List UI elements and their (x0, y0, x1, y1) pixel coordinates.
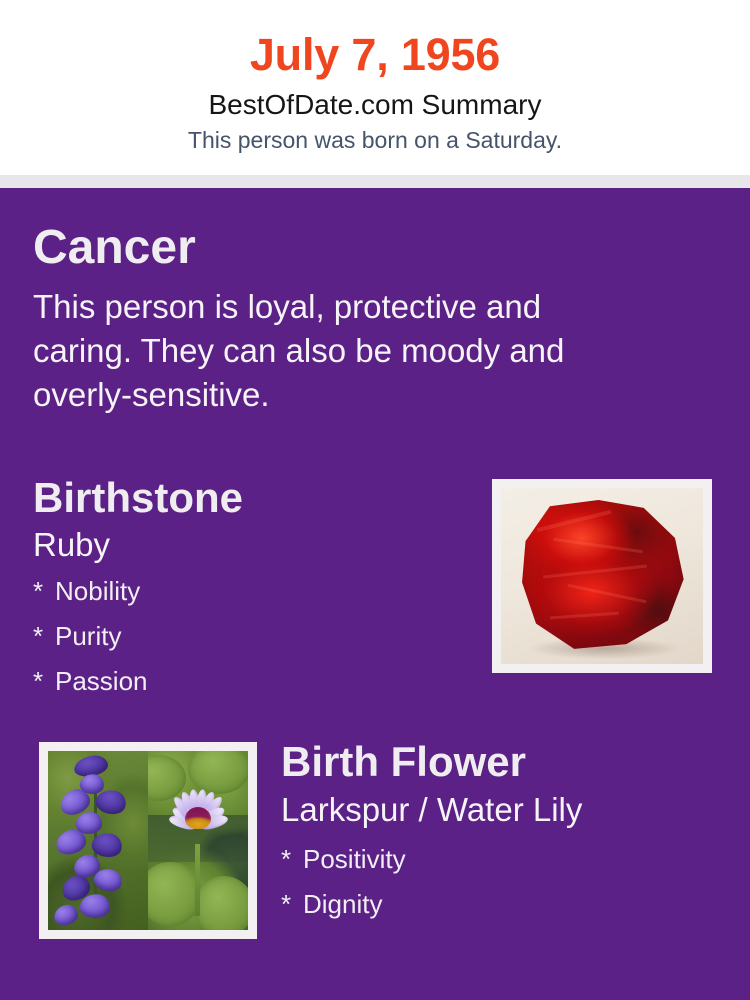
trait-label: Positivity (303, 844, 406, 874)
lily-pad (194, 876, 248, 930)
birth-flower-image-frame (39, 742, 257, 939)
birthstone-name: Ruby (33, 523, 463, 565)
trait-label: Passion (55, 666, 148, 696)
ruby-facet-line (568, 584, 647, 604)
lily-flower-center (185, 807, 211, 829)
trait-label: Purity (55, 621, 121, 651)
ruby-facet-line (550, 612, 620, 620)
lily-stem (195, 844, 200, 916)
summary-page: July 7, 1956 BestOfDate.com Summary This… (0, 0, 750, 1000)
ruby-facet-line (543, 564, 647, 578)
bullet-star-icon: * (33, 659, 55, 704)
birthstone-section: Birthstone Ruby *Nobility *Purity *Passi… (33, 473, 463, 704)
birthstone-trait-list: *Nobility *Purity *Passion (33, 565, 463, 704)
bullet-star-icon: * (281, 882, 303, 927)
larkspur-photo-half (48, 751, 148, 930)
larkspur-and-water-lily-photo (48, 751, 248, 930)
details-panel: Cancer This person is loyal, protective … (0, 188, 750, 1000)
birth-flower-name: Larkspur / Water Lily (281, 788, 731, 831)
ruby-crystal-shape (515, 497, 689, 655)
list-item: *Nobility (33, 569, 463, 614)
ruby-facet-line (537, 510, 612, 532)
birth-flower-title: Birth Flower (281, 736, 731, 788)
site-summary-label: BestOfDate.com Summary (0, 84, 750, 123)
birth-flower-trait-list: *Positivity *Dignity (281, 831, 731, 927)
trait-label: Dignity (303, 889, 382, 919)
bullet-star-icon: * (281, 837, 303, 882)
birthstone-image-frame (492, 479, 712, 673)
header-divider (0, 175, 750, 188)
zodiac-description: This person is loyal, protective and car… (33, 276, 643, 417)
zodiac-section: Cancer This person is loyal, protective … (33, 220, 673, 417)
list-item: *Dignity (281, 882, 731, 927)
list-item: *Positivity (281, 837, 731, 882)
weekday-statement: This person was born on a Saturday. (0, 123, 750, 155)
ruby-facet-line (554, 538, 644, 554)
water-lily-photo-half (148, 751, 248, 930)
page-header: July 7, 1956 BestOfDate.com Summary This… (0, 0, 750, 175)
list-item: *Purity (33, 614, 463, 659)
bullet-star-icon: * (33, 569, 55, 614)
list-item: *Passion (33, 659, 463, 704)
bullet-star-icon: * (33, 614, 55, 659)
page-title-date: July 7, 1956 (0, 0, 750, 84)
birthstone-title: Birthstone (33, 473, 463, 523)
birth-flower-section: Birth Flower Larkspur / Water Lily *Posi… (281, 736, 731, 927)
trait-label: Nobility (55, 576, 140, 606)
ruby-crystal-photo (501, 488, 703, 664)
zodiac-sign-title: Cancer (33, 220, 673, 276)
